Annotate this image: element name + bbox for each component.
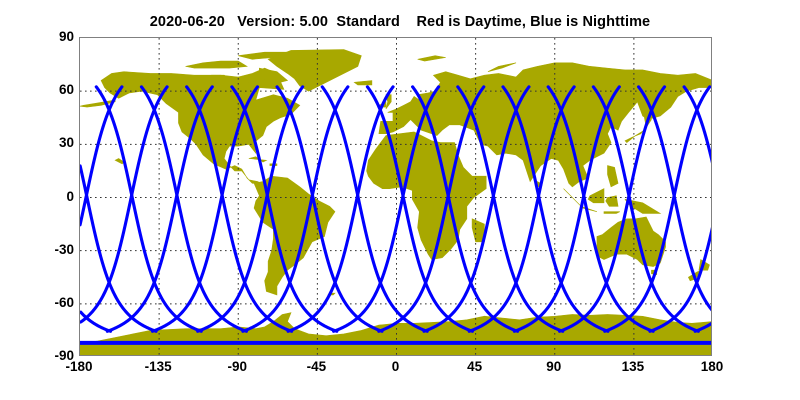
x-tick-label: -180 — [39, 360, 119, 374]
figure-canvas: 2020-06-20 Version: 5.00 Standard Red is… — [0, 0, 800, 400]
x-tick-label: -135 — [118, 360, 198, 374]
x-tick-label: 45 — [435, 360, 515, 374]
x-tick-label: 90 — [514, 360, 594, 374]
x-tick-label: -45 — [276, 360, 356, 374]
x-tick-label: 135 — [593, 360, 673, 374]
x-tick-label: 0 — [356, 360, 436, 374]
x-tick-label: 180 — [672, 360, 752, 374]
x-tick-label: -90 — [197, 360, 277, 374]
x-axis-tick-labels: -180-135-90-4504590135180 — [0, 0, 800, 400]
